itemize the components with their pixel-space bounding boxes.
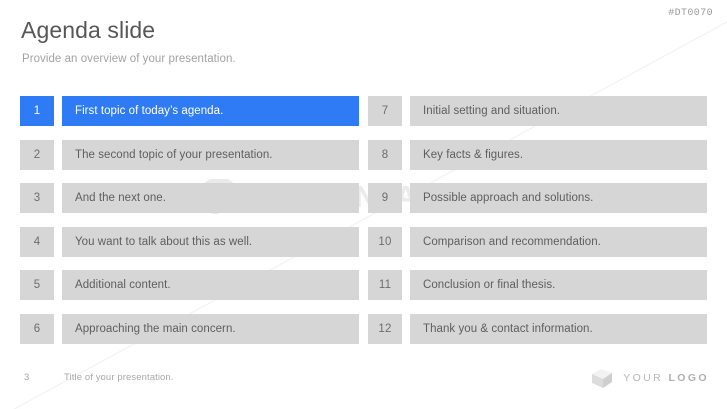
document-code: #DT0070 — [668, 8, 713, 19]
agenda-row-label: The second topic of your presentation. — [62, 140, 359, 170]
agenda-row-label: Additional content. — [62, 270, 359, 300]
agenda-row[interactable]: 3And the next one. — [20, 183, 359, 213]
agenda-row-label: Approaching the main concern. — [62, 314, 359, 344]
agenda-row-label: Key facts & figures. — [410, 140, 707, 170]
agenda-row-number: 4 — [20, 227, 54, 257]
agenda-row-number: 1 — [20, 96, 54, 126]
agenda-row-number: 9 — [368, 183, 402, 213]
agenda-row-number: 2 — [20, 140, 54, 170]
agenda-row-number: 3 — [20, 183, 54, 213]
footer-title: Title of your presentation. — [64, 372, 174, 383]
agenda-column-right: 7Initial setting and situation.8Key fact… — [368, 96, 707, 357]
logo-text: YOUR LOGO — [623, 372, 709, 384]
agenda-row[interactable]: 11Conclusion or final thesis. — [368, 270, 707, 300]
agenda-row-number: 11 — [368, 270, 402, 300]
agenda-row[interactable]: 12Thank you & contact information. — [368, 314, 707, 344]
agenda-row[interactable]: 5Additional content. — [20, 270, 359, 300]
page-title: Agenda slide — [21, 18, 155, 43]
agenda-row-number: 7 — [368, 96, 402, 126]
agenda-row-label: And the next one. — [62, 183, 359, 213]
footer-page-number: 3 — [24, 372, 29, 383]
agenda-row-label: You want to talk about this as well. — [62, 227, 359, 257]
agenda-row-label: Conclusion or final thesis. — [410, 270, 707, 300]
logo-word-logo: LOGO — [668, 372, 709, 384]
agenda-row[interactable]: 6Approaching the main concern. — [20, 314, 359, 344]
agenda-row[interactable]: 9Possible approach and solutions. — [368, 183, 707, 213]
logo-placeholder: YOUR LOGO — [590, 367, 709, 389]
agenda-row[interactable]: 1First topic of today’s agenda. — [20, 96, 359, 126]
agenda-row-number: 10 — [368, 227, 402, 257]
agenda-row-label: Thank you & contact information. — [410, 314, 707, 344]
page-subtitle: Provide an overview of your presentation… — [22, 53, 236, 65]
agenda-row-number: 8 — [368, 140, 402, 170]
agenda-row[interactable]: 7Initial setting and situation. — [368, 96, 707, 126]
slide-canvas: PRESENTATIONLOAD #DT0070 Agenda slide Pr… — [0, 0, 727, 409]
agenda-row[interactable]: 10Comparison and recommendation. — [368, 227, 707, 257]
cube-icon — [590, 367, 614, 389]
agenda-row-label: First topic of today’s agenda. — [62, 96, 359, 126]
agenda-row-number: 5 — [20, 270, 54, 300]
agenda-row[interactable]: 2The second topic of your presentation. — [20, 140, 359, 170]
logo-word-your: YOUR — [623, 372, 663, 384]
agenda-row-label: Comparison and recommendation. — [410, 227, 707, 257]
agenda-row[interactable]: 8Key facts & figures. — [368, 140, 707, 170]
agenda-row-label: Initial setting and situation. — [410, 96, 707, 126]
agenda-row-label: Possible approach and solutions. — [410, 183, 707, 213]
agenda-row-number: 6 — [20, 314, 54, 344]
agenda-row-number: 12 — [368, 314, 402, 344]
agenda-column-left: 1First topic of today’s agenda.2The seco… — [20, 96, 359, 357]
agenda-row[interactable]: 4You want to talk about this as well. — [20, 227, 359, 257]
